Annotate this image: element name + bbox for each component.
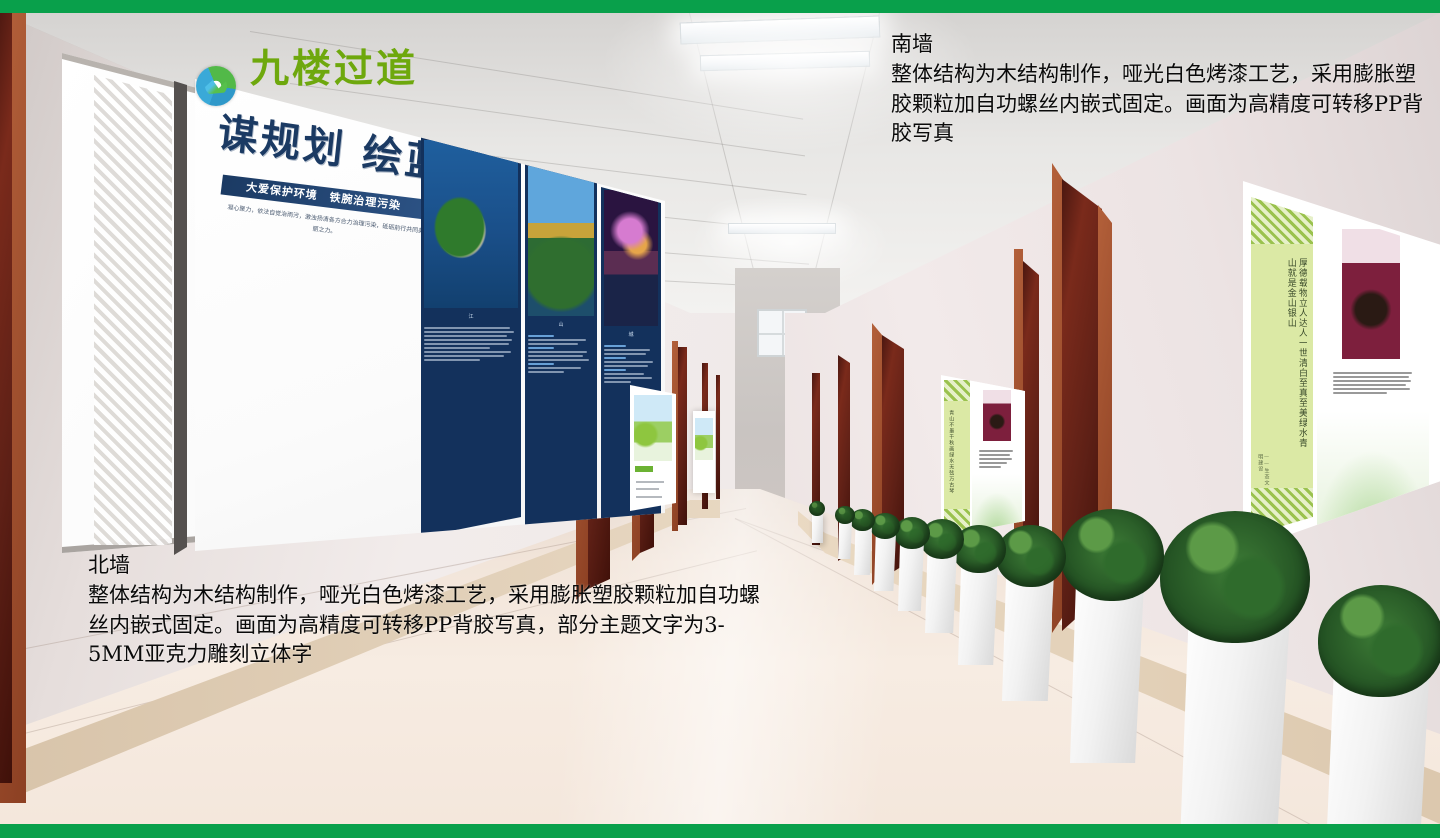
panel-body-text [979, 450, 1015, 470]
topiary-ball [835, 506, 855, 524]
photo-description [424, 327, 518, 363]
topiary-ball [1060, 509, 1164, 601]
panel-green-side: 厚德载物立人达人一世清白至真至美绿水青山就是金山银山 ——生态文明建设 [1251, 197, 1313, 535]
south-wall-annotation: 南墙 整体结构为木结构制作，哑光白色烤漆工艺，采用膨胀塑胶颗粒加自功螺丝内嵌式固… [891, 30, 1431, 149]
planter [854, 527, 872, 575]
left-wall-mini-poster[interactable] [630, 385, 676, 511]
photo-column: 山 [525, 163, 597, 539]
planter [1180, 613, 1290, 824]
planter [1070, 583, 1144, 763]
poster-headline: 谋规划 绘蓝图 [216, 112, 433, 184]
topiary-ball-far [809, 501, 825, 516]
topiary-ball [996, 525, 1066, 587]
mini-poster-image [695, 418, 714, 461]
planter [958, 561, 998, 665]
page-title: 九楼过道 [250, 38, 418, 94]
chinese-fretwork-lattice-icon [94, 75, 172, 545]
panel-green-side: 青山不墨千秋画绿水无弦万古琴 [944, 380, 970, 530]
photo-aerial-river-island [424, 140, 518, 308]
poster-face: 谋规划 绘蓝图 大爱保护环境 铁腕治理污染 凝心聚力，依法自觉治雨污，激浊扬清各… [195, 75, 665, 555]
corridor-design-rendering: 谋规划 绘蓝图 大爱保护环境 铁腕治理污染 凝心聚力，依法自觉治雨污，激浊扬清各… [0, 0, 1440, 838]
right-wall-panel-mid[interactable]: 青山不墨千秋画绿水无弦万古琴 [941, 375, 1025, 537]
photo-caption: 山 [525, 321, 597, 328]
ceiling-light-fixture [728, 223, 836, 234]
planter [1002, 573, 1054, 701]
planter [898, 541, 924, 611]
photo-description [528, 335, 594, 375]
topiary-ball [1318, 585, 1440, 697]
fretwork-border-icon [1251, 197, 1313, 244]
north-wall-culture-board[interactable]: 谋规划 绘蓝图 大爱保护环境 铁腕治理污染 凝心聚力，依法自觉治雨污，激浊扬清各… [62, 53, 622, 553]
fretwork-border-icon [944, 380, 970, 401]
panel-photo [983, 390, 1011, 441]
panel-white-side [1317, 209, 1429, 535]
photo-description [604, 345, 658, 385]
planter-far [812, 513, 823, 543]
top-green-border [0, 0, 1440, 13]
planter [838, 521, 852, 559]
photo-caption: 江 [421, 313, 521, 320]
mini-poster-heading-bar [635, 466, 653, 472]
door-left-1[interactable] [0, 13, 12, 783]
north-wall-annotation: 北墙 整体结构为木结构制作，哑光白色烤漆工艺，采用膨胀塑胶颗粒加自功螺丝内嵌式固… [88, 551, 768, 670]
panel-photo-maple-leaf [1342, 229, 1400, 359]
planter [874, 533, 896, 591]
panel-body-text [1333, 372, 1416, 396]
left-wall-mini-poster-far[interactable] [693, 411, 715, 493]
mini-poster-image [634, 395, 673, 461]
photo-night-cityscape [604, 190, 658, 326]
topiary-ball [1160, 511, 1310, 643]
environmental-protection-logo-icon [196, 66, 236, 106]
panel-green-text: 青山不墨千秋画绿水无弦万古琴 [948, 410, 954, 497]
photo-caption: 城 [601, 331, 661, 338]
door-left-6[interactable] [716, 375, 720, 499]
bottom-green-border [0, 824, 1440, 838]
photo-pagoda-temple [528, 166, 594, 316]
panel-green-text: 厚德载物立人达人一世清白至真至美绿水青山就是金山银山 [1257, 258, 1307, 454]
panel-white-side [972, 381, 1022, 531]
door-left-4[interactable] [678, 347, 687, 525]
planter [925, 549, 957, 633]
photo-column: 江 [421, 137, 521, 537]
board-divider-rail [174, 81, 187, 555]
panel-green-footer: ——生态文明建设 [1257, 454, 1270, 488]
